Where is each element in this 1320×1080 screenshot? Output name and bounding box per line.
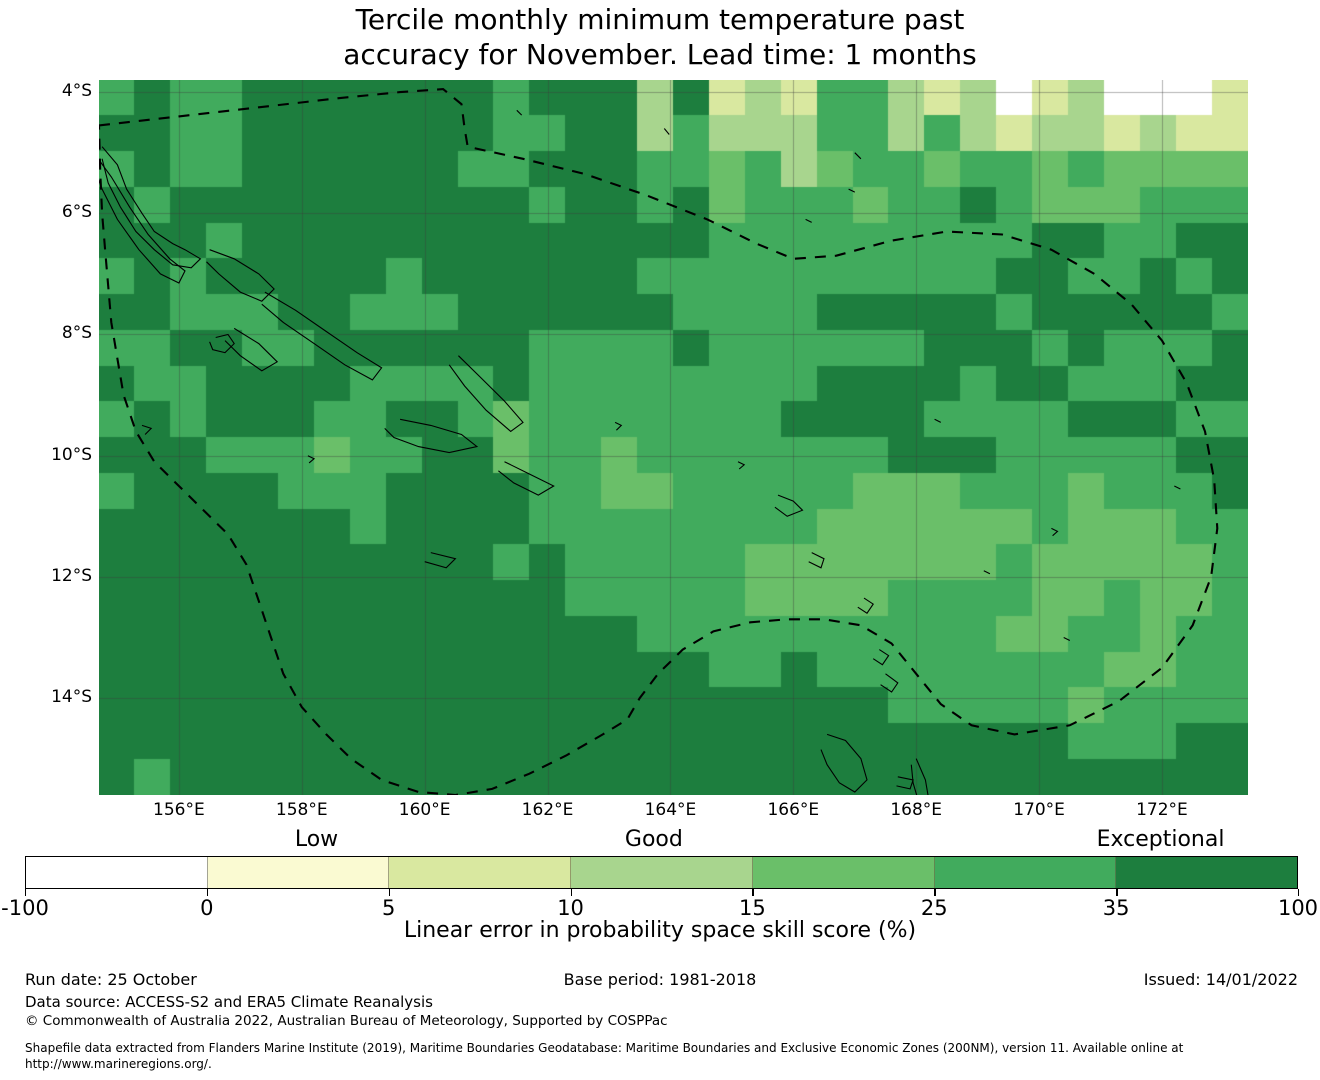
- colorbar-tick-label: 25: [874, 897, 994, 919]
- lat-tick-label: 12°S: [2, 568, 92, 585]
- shapefile-attribution-text: Shapefile data extracted from Flanders M…: [25, 1040, 1295, 1072]
- colorbar-segment-4: [753, 857, 935, 888]
- title-line-2: accuracy for November. Lead time: 1 mont…: [0, 37, 1320, 72]
- colorbar-category-label: Exceptional: [1097, 828, 1225, 852]
- colorbar-category-label: Good: [625, 828, 683, 852]
- colorbar-tick-label: 15: [692, 897, 812, 919]
- lon-tick-label: 156°E: [119, 802, 239, 819]
- colorbar-category-labels: LowGoodExceptional: [0, 828, 1320, 854]
- colorbar-tick-mark: [1298, 889, 1299, 896]
- colorbar-tick-mark: [207, 889, 208, 896]
- lat-tick-label: 4°S: [2, 83, 92, 100]
- colorbar-tick-labels: -1000510152535100: [0, 889, 1320, 919]
- lat-tick-label: 6°S: [2, 204, 92, 221]
- colorbar-tick-label: 0: [147, 897, 267, 919]
- lon-tick-label: 164°E: [610, 802, 730, 819]
- colorbar-tick-mark: [1116, 889, 1117, 896]
- base-period-text: Base period: 1981-2018: [0, 970, 1320, 990]
- colorbar-tick-mark: [571, 889, 572, 896]
- colorbar-segment-1: [208, 857, 390, 888]
- map-plot-area: [99, 80, 1248, 795]
- colorbar-tick-label: 10: [511, 897, 631, 919]
- lon-tick-label: 166°E: [733, 802, 853, 819]
- colorbar-tick-mark: [752, 889, 753, 896]
- colorbar-segment-5: [935, 857, 1117, 888]
- issued-date-text: Issued: 14/01/2022: [1144, 970, 1298, 990]
- colorbar-axis-label: Linear error in probability space skill …: [0, 918, 1320, 944]
- lat-tick-label: 10°S: [2, 447, 92, 464]
- colorbar-tick-label: 5: [329, 897, 449, 919]
- lon-tick-label: 172°E: [1102, 802, 1222, 819]
- colorbar-segment-2: [389, 857, 571, 888]
- colorbar-segment-0: [26, 857, 208, 888]
- eez-boundary-overlay: [99, 80, 1248, 795]
- colorbar-tick-mark: [389, 889, 390, 896]
- title-line-1: Tercile monthly minimum temperature past: [0, 2, 1320, 37]
- data-source-text: Data source: ACCESS-S2 and ERA5 Climate …: [25, 993, 433, 1012]
- colorbar-tick-label: 100: [1238, 897, 1320, 919]
- colorbar-tick-label: 35: [1056, 897, 1176, 919]
- colorbar-tick-mark: [934, 889, 935, 896]
- colorbar-category-label: Low: [295, 828, 338, 852]
- colorbar: [25, 856, 1298, 889]
- colorbar-segment-6: [1116, 857, 1297, 888]
- page-title: Tercile monthly minimum temperature past…: [0, 2, 1320, 72]
- copyright-text: © Commonwealth of Australia 2022, Austra…: [25, 1013, 668, 1030]
- lon-tick-label: 170°E: [979, 802, 1099, 819]
- lat-tick-label: 8°S: [2, 325, 92, 342]
- colorbar-tick-label: -100: [0, 897, 85, 919]
- colorbar-tick-mark: [25, 889, 26, 896]
- lon-tick-label: 160°E: [365, 802, 485, 819]
- footer: Run date: 25 October Base period: 1981-2…: [0, 970, 1320, 1080]
- lon-tick-label: 162°E: [488, 802, 608, 819]
- lon-tick-label: 168°E: [856, 802, 976, 819]
- lat-tick-label: 14°S: [2, 689, 92, 706]
- colorbar-segment-3: [571, 857, 753, 888]
- lon-tick-label: 158°E: [242, 802, 362, 819]
